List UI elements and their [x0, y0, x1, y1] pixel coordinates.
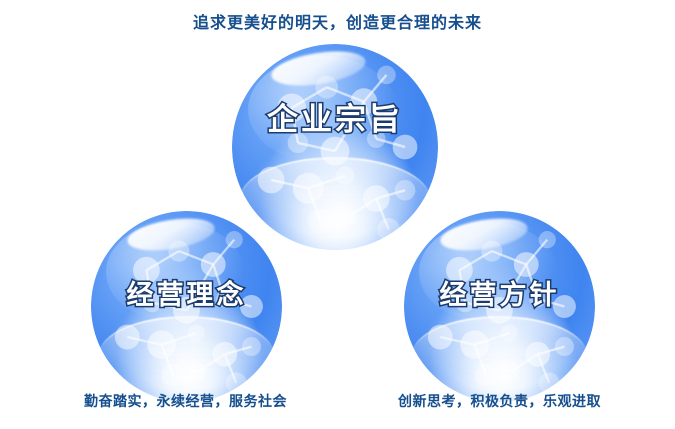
- diagram-canvas: 追求更美好的明天，创造更合理的未来: [0, 0, 675, 429]
- sphere-bottom-reflection: [412, 316, 588, 394]
- sphere-label-corporate-purpose: 企业宗旨: [232, 94, 438, 139]
- page-title: 追求更美好的明天，创造更合理的未来: [0, 12, 675, 34]
- caption-management-policy: 创新思考，积极负责，乐观进取: [372, 392, 627, 412]
- sphere-label-management-policy: 经营方针: [404, 273, 595, 312]
- sphere-bottom-reflection: [99, 316, 275, 394]
- caption-management-philosophy: 勤奋踏实，永续经营，服务社会: [58, 392, 313, 412]
- sphere-management-philosophy[interactable]: 经营理念: [91, 211, 282, 402]
- sphere-management-policy[interactable]: 经营方针: [404, 211, 595, 402]
- sphere-label-management-philosophy: 经营理念: [91, 273, 282, 312]
